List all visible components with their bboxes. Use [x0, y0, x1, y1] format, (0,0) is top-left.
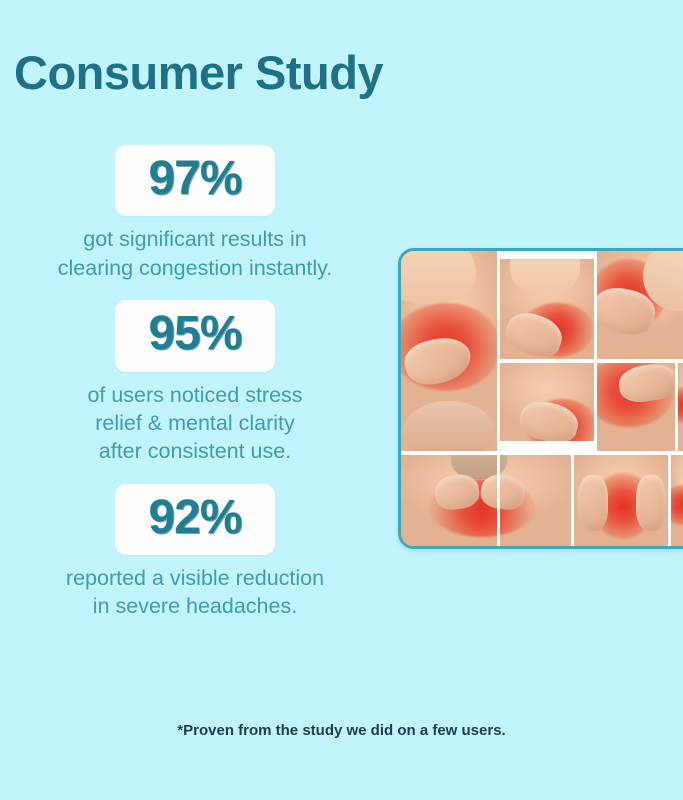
collage-gutter	[594, 251, 597, 455]
stat-badge-92: 92%	[115, 484, 275, 555]
stat-badge-95: 95%	[115, 300, 275, 371]
shoulder-pain-photo	[597, 251, 683, 359]
stat-caption-95: of users noticed stress relief & mental …	[0, 381, 390, 466]
upper-arm-pain-photo	[597, 363, 675, 451]
collage-gutter	[500, 359, 683, 363]
collage-grid	[401, 251, 683, 546]
caption-line: relief & mental clarity	[34, 409, 356, 437]
collage-gutter	[500, 251, 594, 259]
stat-block-92: 92% reported a visible reduction in seve…	[0, 484, 390, 621]
collage-gutter	[571, 455, 574, 546]
collage-gutter	[668, 455, 671, 546]
caption-line: after consistent use.	[34, 437, 356, 465]
stats-column: 97% got significant results in clearing …	[0, 145, 390, 639]
stat-value-97: 97%	[145, 154, 245, 204]
page-title: Consumer Study	[14, 47, 383, 99]
caption-line: in severe headaches.	[34, 592, 356, 620]
stat-badge-97: 97%	[115, 145, 275, 216]
caption-line: reported a visible reduction	[34, 564, 356, 592]
infographic-page: Consumer Study 97% got significant resul…	[0, 0, 683, 800]
footnote: *Proven from the study we did on a few u…	[0, 722, 683, 739]
stat-block-97: 97% got significant results in clearing …	[0, 145, 390, 282]
chest-pain-photo	[401, 251, 497, 451]
collage-gutter	[675, 363, 678, 455]
caption-line: clearing congestion instantly.	[34, 254, 356, 282]
stat-value-95: 95%	[145, 309, 245, 359]
stat-caption-97: got significant results in clearing cong…	[0, 225, 390, 282]
caption-line: of users noticed stress	[34, 381, 356, 409]
side-torso-pain-photo	[678, 363, 683, 451]
collage-gutter	[497, 251, 500, 546]
stat-block-95: 95% of users noticed stress relief & men…	[0, 300, 390, 466]
hip-pain-photo	[671, 455, 683, 546]
stat-value-92: 92%	[145, 493, 245, 543]
abdomen-pain-photo	[500, 363, 594, 451]
caption-line: got significant results in	[34, 225, 356, 253]
elbow-pain-photo	[500, 259, 594, 359]
knee-pain-photo	[574, 455, 668, 546]
collage-gutter	[401, 451, 683, 455]
stat-caption-92: reported a visible reduction in severe h…	[0, 564, 390, 621]
neck-back-pain-photo	[401, 455, 571, 546]
pain-relief-collage	[398, 248, 683, 549]
